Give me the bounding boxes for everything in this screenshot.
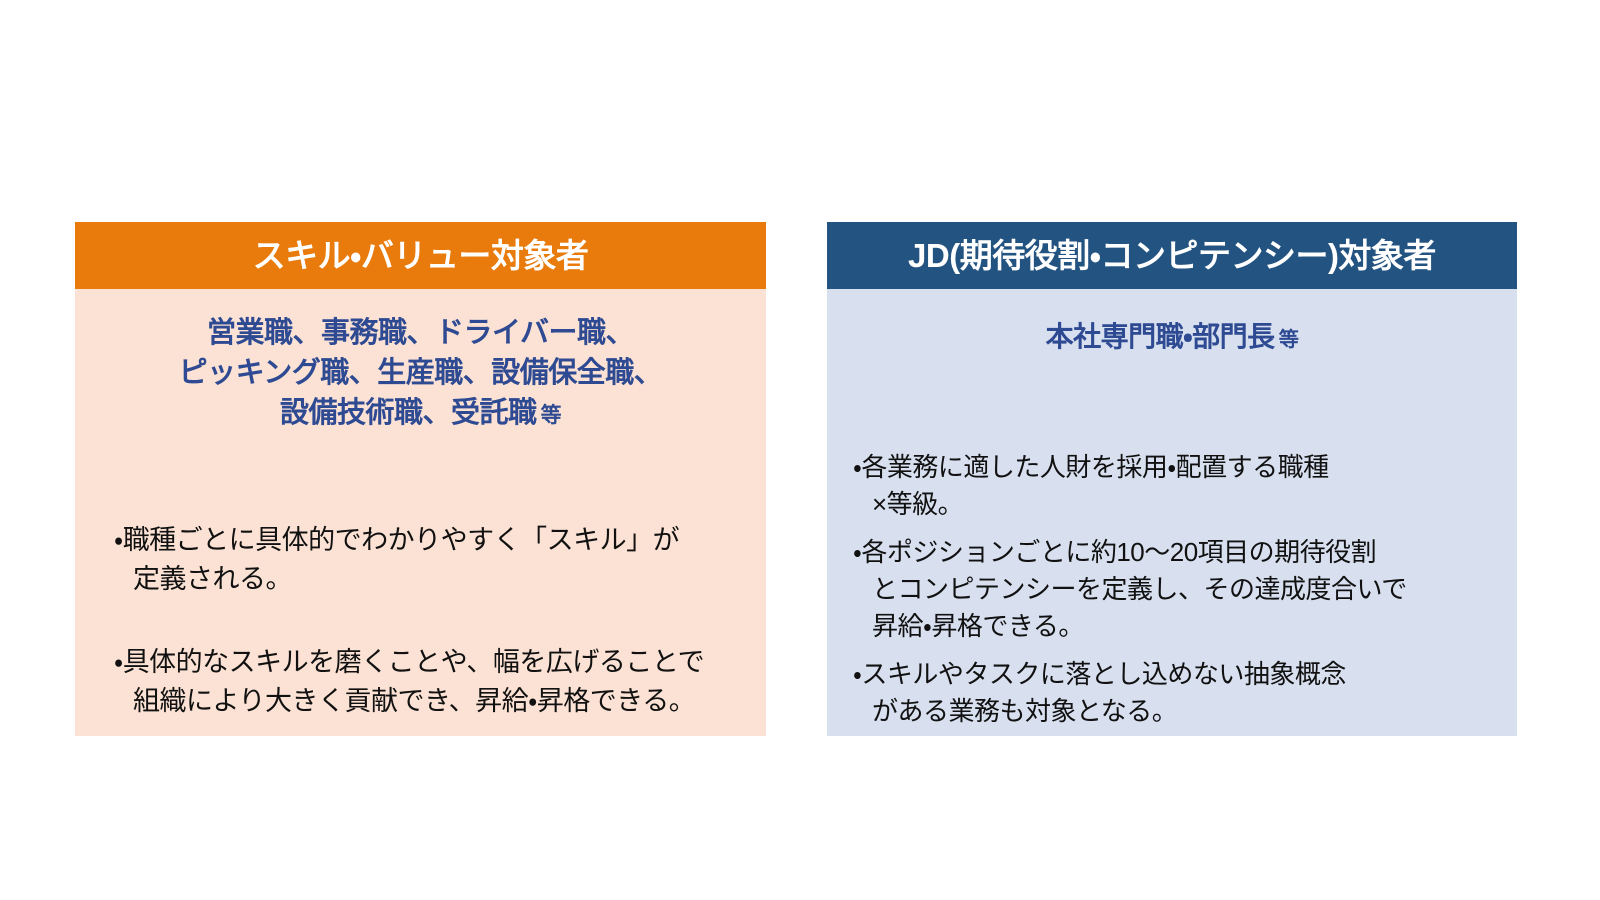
skill-roles-etc: 等 <box>541 404 561 427</box>
bullet-line: ×等級。 <box>853 486 1499 523</box>
bullet-line: ・各業務に適した人財を採用・配置する職種 <box>853 449 1499 486</box>
bullet-line: がある業務も対象となる。 <box>853 693 1499 730</box>
bullet-text: 各ポジションごとに約10〜20項目の期待役割 <box>861 537 1376 567</box>
panel-skill-value-body: 営業職、事務職、ドライバー職、 ピッキング職、生産職、設備保全職、 設備技術職、… <box>75 289 766 736</box>
slide-canvas: スキル・バリュー対象者 営業職、事務職、ドライバー職、 ピッキング職、生産職、設… <box>0 0 1600 900</box>
skill-roles-line-3-text: 設備技術職、受託職 <box>280 397 537 429</box>
bullet-line: 組織により大きく貢献でき、昇給・昇格できる。 <box>114 682 744 721</box>
panel-jd-body: 本社専門職・部門長等 ・各業務に適した人財を採用・配置する職種 ×等級。 ・各ポ… <box>827 289 1517 736</box>
skill-value-bullet-list: ・職種ごとに具体的でわかりやすく「スキル」が 定義される。 ・具体的なスキルを磨… <box>114 521 744 721</box>
jd-roles-etc: 等 <box>1279 329 1299 351</box>
panel-jd: JD(期待役割・コンピテンシー)対象者 本社専門職・部門長等 ・各業務に適した人… <box>827 222 1517 736</box>
jd-roles-line-1-text: 本社専門職・部門長 <box>1046 321 1275 352</box>
list-item: ・具体的なスキルを磨くことや、幅を広げることで 組織により大きく貢献でき、昇給・… <box>114 643 744 721</box>
panel-jd-header: JD(期待役割・コンピテンシー)対象者 <box>827 222 1517 289</box>
bullet-text: 具体的なスキルを磨くことや、幅を広げることで <box>123 647 704 677</box>
skill-value-target-roles: 営業職、事務職、ドライバー職、 ピッキング職、生産職、設備保全職、 設備技術職、… <box>75 313 766 436</box>
bullet-marker: ・ <box>114 525 123 555</box>
list-item: ・スキルやタスクに落とし込めない抽象概念 がある業務も対象となる。 <box>853 656 1499 730</box>
panel-skill-value-header: スキル・バリュー対象者 <box>75 222 766 289</box>
skill-roles-line-2: ピッキング職、生産職、設備保全職、 <box>75 353 766 393</box>
panel-skill-value: スキル・バリュー対象者 営業職、事務職、ドライバー職、 ピッキング職、生産職、設… <box>75 222 766 736</box>
bullet-text: 各業務に適した人財を採用・配置する職種 <box>861 452 1328 482</box>
list-item: ・職種ごとに具体的でわかりやすく「スキル」が 定義される。 <box>114 521 744 599</box>
bullet-line: 昇給・昇格できる。 <box>853 608 1499 645</box>
bullet-line: ・各ポジションごとに約10〜20項目の期待役割 <box>853 534 1499 571</box>
bullet-text: 職種ごとに具体的でわかりやすく「スキル」が <box>123 525 680 555</box>
jd-bullet-list: ・各業務に適した人財を採用・配置する職種 ×等級。 ・各ポジションごとに約10〜… <box>853 449 1499 730</box>
bullet-line: ・具体的なスキルを磨くことや、幅を広げることで <box>114 643 744 682</box>
list-item: ・各ポジションごとに約10〜20項目の期待役割 とコンピテンシーを定義し、その達… <box>853 534 1499 645</box>
bullet-marker: ・ <box>114 647 123 677</box>
bullet-line: とコンピテンシーを定義し、その達成度合いで <box>853 571 1499 608</box>
skill-roles-line-1: 営業職、事務職、ドライバー職、 <box>75 313 766 353</box>
bullet-line: ・スキルやタスクに落とし込めない抽象概念 <box>853 656 1499 693</box>
jd-roles-line-1: 本社専門職・部門長等 <box>827 318 1517 359</box>
list-item: ・各業務に適した人財を採用・配置する職種 ×等級。 <box>853 449 1499 523</box>
bullet-line: ・職種ごとに具体的でわかりやすく「スキル」が <box>114 521 744 560</box>
jd-target-roles: 本社専門職・部門長等 <box>827 318 1517 359</box>
skill-roles-line-3: 設備技術職、受託職等 <box>75 393 766 436</box>
bullet-text: スキルやタスクに落とし込めない抽象概念 <box>861 659 1346 689</box>
bullet-line: 定義される。 <box>114 560 744 599</box>
